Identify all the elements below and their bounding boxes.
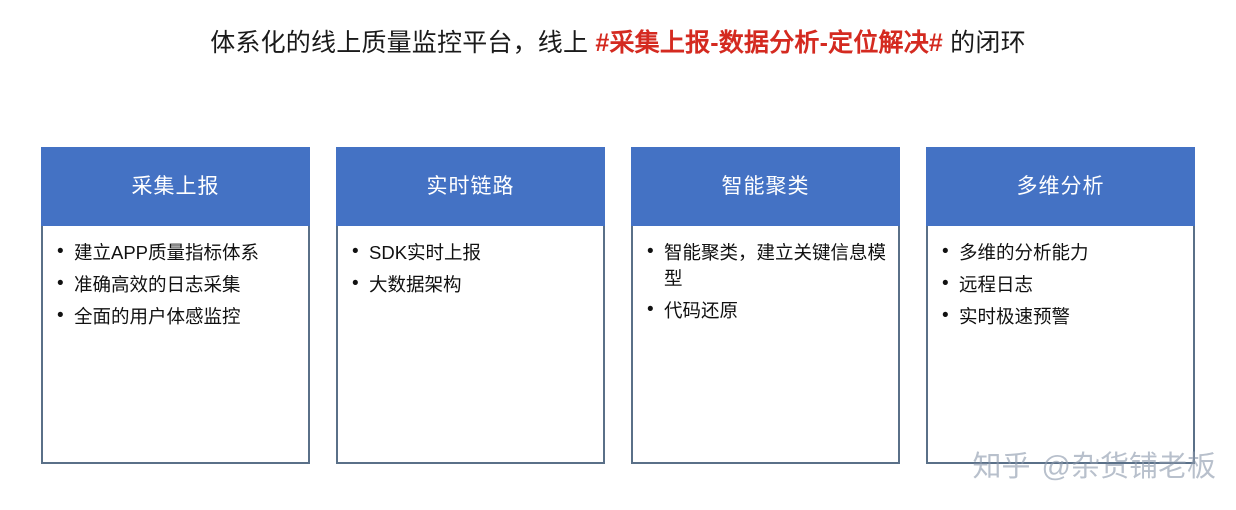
- list-item: SDK实时上报: [350, 240, 593, 266]
- capability-card-row: 采集上报 建立APP质量指标体系 准确高效的日志采集 全面的用户体感监控 实时链…: [41, 147, 1195, 464]
- title-suffix-text: 的闭环: [943, 29, 1026, 57]
- card-header-smart-clustering: 智能聚类: [631, 147, 900, 226]
- card-body-smart-clustering: 智能聚类，建立关键信息模型 代码还原: [633, 226, 898, 462]
- title-prefix-text: 体系化的线上质量监控平台，线上: [210, 29, 595, 57]
- capability-card-realtime-link[interactable]: 实时链路 SDK实时上报 大数据架构: [336, 147, 605, 464]
- list-item: 代码还原: [645, 298, 888, 324]
- bullet-list: SDK实时上报 大数据架构: [350, 240, 593, 298]
- card-title-label: 智能聚类: [722, 173, 810, 201]
- capability-card-collection[interactable]: 采集上报 建立APP质量指标体系 准确高效的日志采集 全面的用户体感监控: [41, 147, 310, 464]
- card-title-label: 实时链路: [427, 173, 515, 201]
- list-item: 建立APP质量指标体系: [55, 240, 298, 266]
- bullet-list: 建立APP质量指标体系 准确高效的日志采集 全面的用户体感监控: [55, 240, 298, 330]
- title-highlight-text: #采集上报-数据分析-定位解决#: [595, 29, 943, 57]
- list-item: 大数据架构: [350, 272, 593, 298]
- card-header-collection: 采集上报: [41, 147, 310, 226]
- card-header-realtime-link: 实时链路: [336, 147, 605, 226]
- list-item: 远程日志: [940, 272, 1183, 298]
- list-item: 多维的分析能力: [940, 240, 1183, 266]
- card-title-label: 采集上报: [132, 173, 220, 201]
- bullet-list: 智能聚类，建立关键信息模型 代码还原: [645, 240, 888, 324]
- bullet-list: 多维的分析能力 远程日志 实时极速预警: [940, 240, 1183, 330]
- list-item: 实时极速预警: [940, 304, 1183, 330]
- card-body-realtime-link: SDK实时上报 大数据架构: [338, 226, 603, 462]
- list-item: 全面的用户体感监控: [55, 304, 298, 330]
- card-body-collection: 建立APP质量指标体系 准确高效的日志采集 全面的用户体感监控: [43, 226, 308, 462]
- card-header-multidim-analysis: 多维分析: [926, 147, 1195, 226]
- card-title-label: 多维分析: [1017, 173, 1105, 201]
- list-item: 智能聚类，建立关键信息模型: [645, 240, 888, 292]
- capability-card-multidim-analysis[interactable]: 多维分析 多维的分析能力 远程日志 实时极速预警: [926, 147, 1195, 464]
- card-body-multidim-analysis: 多维的分析能力 远程日志 实时极速预警: [928, 226, 1193, 462]
- slide-title-bar: 体系化的线上质量监控平台，线上 #采集上报-数据分析-定位解决# 的闭环: [0, 0, 1236, 86]
- page-title: 体系化的线上质量监控平台，线上 #采集上报-数据分析-定位解决# 的闭环: [210, 26, 1026, 60]
- capability-card-smart-clustering[interactable]: 智能聚类 智能聚类，建立关键信息模型 代码还原: [631, 147, 900, 464]
- list-item: 准确高效的日志采集: [55, 272, 298, 298]
